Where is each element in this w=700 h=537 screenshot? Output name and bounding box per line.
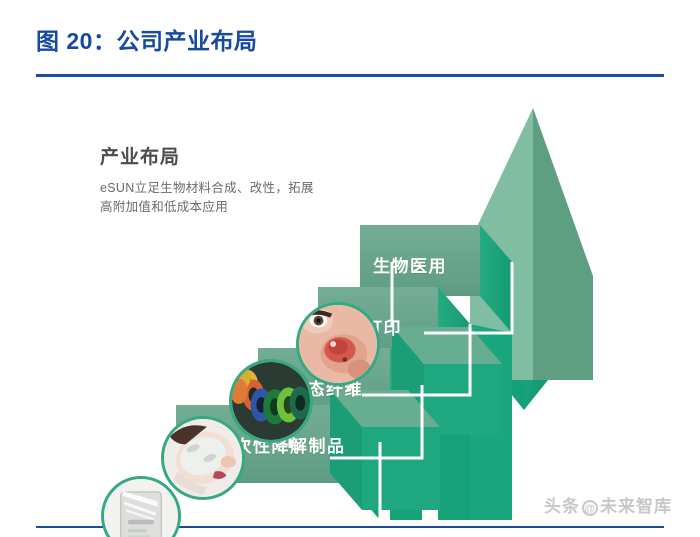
step-label-biomedical[interactable]: 生物医用: [373, 252, 447, 277]
biomedical-skin-icon: [299, 305, 377, 383]
bubble-image: [299, 305, 377, 383]
blurb-subtitle-line-1: eSUN立足生物材料合成、改性，拓展: [100, 179, 360, 198]
figure-page: 图 20：公司产业布局: [0, 0, 700, 537]
filament-spools-icon: [232, 362, 310, 440]
watermark-at-icon: @: [582, 500, 598, 516]
title-divider-top: [36, 74, 664, 77]
watermark: 头条@未来智库: [544, 492, 672, 517]
watermark-suffix: 未来智库: [600, 497, 672, 516]
filament-spools-photo-bubble[interactable]: [229, 359, 313, 443]
bubble-image: [232, 362, 310, 440]
industry-layout-infographic: 产业布局 eSUN立足生物材料合成、改性，拓展 高附加值和低成本应用 生物医用 …: [0, 80, 700, 520]
blurb-heading: 产业布局: [100, 142, 360, 169]
bubble-image: [104, 479, 178, 537]
blurb: 产业布局 eSUN立足生物材料合成、改性，拓展 高附加值和低成本应用: [100, 142, 360, 218]
packaged-product-icon: [104, 479, 178, 537]
watermark-prefix: 头条: [544, 497, 580, 516]
bubble-image: [164, 419, 242, 497]
biomedical-skin-photo-bubble[interactable]: [296, 302, 380, 386]
page-title: 图 20：公司产业布局: [36, 22, 257, 56]
blurb-subtitle-line-2: 高附加值和低成本应用: [100, 198, 360, 217]
facial-mask-photo-bubble[interactable]: [161, 416, 245, 500]
facial-mask-icon: [164, 419, 242, 497]
